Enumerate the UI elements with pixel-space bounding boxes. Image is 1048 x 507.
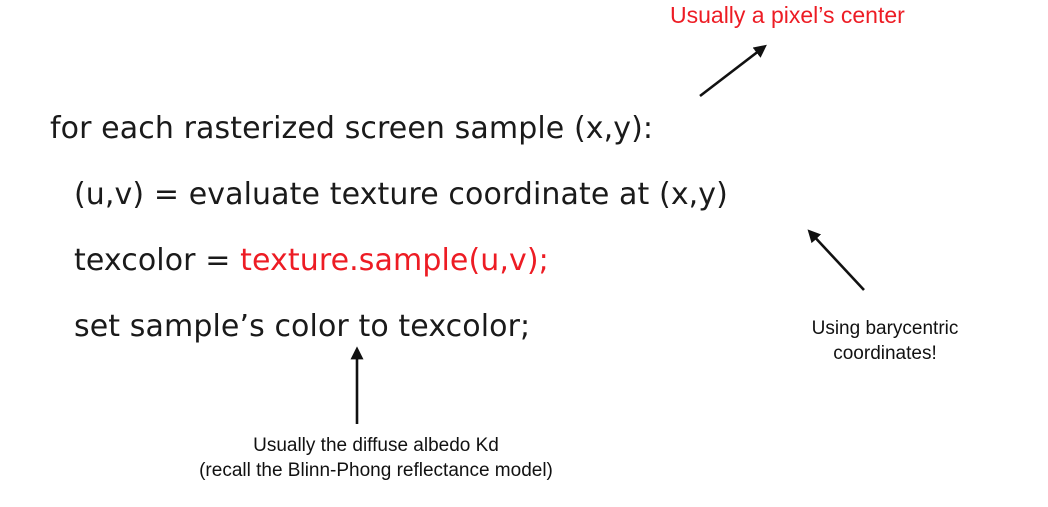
code-line-2: (u,v) = evaluate texture coordinate at (… <box>50 162 750 228</box>
code-line-3-highlight: texture.sample(u,v); <box>240 243 549 278</box>
annotation-albedo: Usually the diffuse albedo Kd (recall th… <box>126 433 626 483</box>
arrow-to-texture-sample <box>810 232 864 290</box>
code-line-4-text: set sample’s color to texcolor; <box>74 309 530 344</box>
annotation-pixel-center: Usually a pixel’s center <box>670 1 905 29</box>
code-line-1: for each rasterized screen sample (x,y): <box>50 96 750 162</box>
annotation-barycentric-line-1: Using barycentric <box>782 316 988 341</box>
annotation-albedo-line-1: Usually the diffuse albedo Kd <box>126 433 626 458</box>
code-line-1-text: for each rasterized screen sample (x,y): <box>50 111 653 146</box>
code-line-3: texcolor = texture.sample(u,v); <box>50 228 750 294</box>
code-line-3-text: texcolor = <box>74 243 240 278</box>
annotation-albedo-line-2: (recall the Blinn-Phong reflectance mode… <box>126 458 626 483</box>
arrow-to-pixel-center <box>700 47 764 96</box>
annotation-barycentric: Using barycentric coordinates! <box>782 316 988 366</box>
slide-canvas: Usually a pixel’s center for each raster… <box>0 0 1048 507</box>
code-line-2-text: (u,v) = evaluate texture coordinate at (… <box>74 177 728 212</box>
annotation-barycentric-line-2: coordinates! <box>782 341 988 366</box>
pseudocode-block: for each rasterized screen sample (x,y):… <box>50 96 750 360</box>
code-line-4: set sample’s color to texcolor; <box>50 294 750 360</box>
